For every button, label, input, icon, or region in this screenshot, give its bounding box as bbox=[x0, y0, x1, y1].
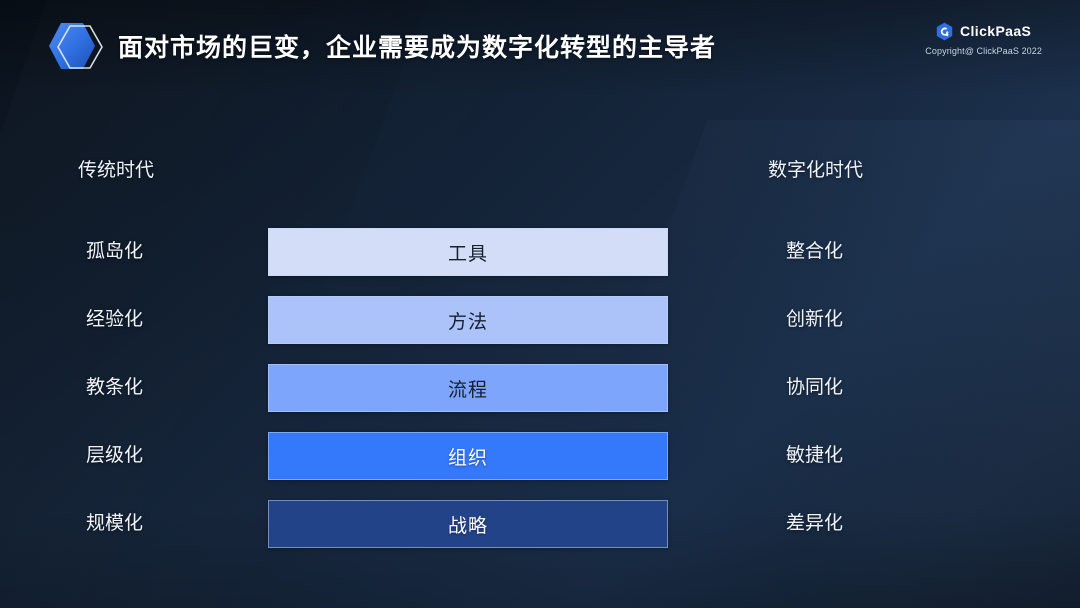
comparison-matrix: 孤岛化 工具 整合化 经验化 方法 创新化 教条化 流程 协同化 层级化 组织 … bbox=[0, 228, 1080, 568]
hexagon-logo-icon bbox=[46, 20, 108, 76]
brand-block: ClickPaaS Copyright@ ClickPaaS 2022 bbox=[925, 22, 1042, 56]
row-right-label: 创新化 bbox=[786, 296, 986, 344]
row-right-label: 协同化 bbox=[786, 364, 986, 412]
copyright-text: Copyright@ ClickPaaS 2022 bbox=[925, 46, 1042, 56]
row-left-label: 规模化 bbox=[86, 500, 256, 548]
row-center-bar[interactable]: 流程 bbox=[268, 364, 668, 412]
row-left-label: 层级化 bbox=[86, 432, 256, 480]
row-right-label: 整合化 bbox=[786, 228, 986, 276]
clickpaas-mark-icon bbox=[936, 22, 953, 41]
row-left-label: 教条化 bbox=[86, 364, 256, 412]
row-center-bar[interactable]: 组织 bbox=[268, 432, 668, 480]
matrix-row: 经验化 方法 创新化 bbox=[0, 296, 1080, 344]
page-title: 面对市场的巨变，企业需要成为数字化转型的主导者 bbox=[118, 28, 716, 64]
column-heading-traditional: 传统时代 bbox=[78, 155, 154, 182]
row-center-bar[interactable]: 战略 bbox=[268, 500, 668, 548]
row-left-label: 孤岛化 bbox=[86, 228, 256, 276]
row-center-bar[interactable]: 方法 bbox=[268, 296, 668, 344]
brand-name: ClickPaaS bbox=[960, 22, 1031, 41]
matrix-row: 孤岛化 工具 整合化 bbox=[0, 228, 1080, 276]
slide-canvas: 面对市场的巨变，企业需要成为数字化转型的主导者 ClickPaaS Copyri… bbox=[0, 0, 1080, 608]
matrix-row: 教条化 流程 协同化 bbox=[0, 364, 1080, 412]
slide-header: 面对市场的巨变，企业需要成为数字化转型的主导者 ClickPaaS Copyri… bbox=[0, 0, 1080, 90]
column-heading-digital: 数字化时代 bbox=[768, 155, 863, 182]
row-right-label: 差异化 bbox=[786, 500, 986, 548]
matrix-row: 层级化 组织 敏捷化 bbox=[0, 432, 1080, 480]
row-center-bar[interactable]: 工具 bbox=[268, 228, 668, 276]
row-left-label: 经验化 bbox=[86, 296, 256, 344]
matrix-row: 规模化 战略 差异化 bbox=[0, 500, 1080, 548]
row-right-label: 敏捷化 bbox=[786, 432, 986, 480]
